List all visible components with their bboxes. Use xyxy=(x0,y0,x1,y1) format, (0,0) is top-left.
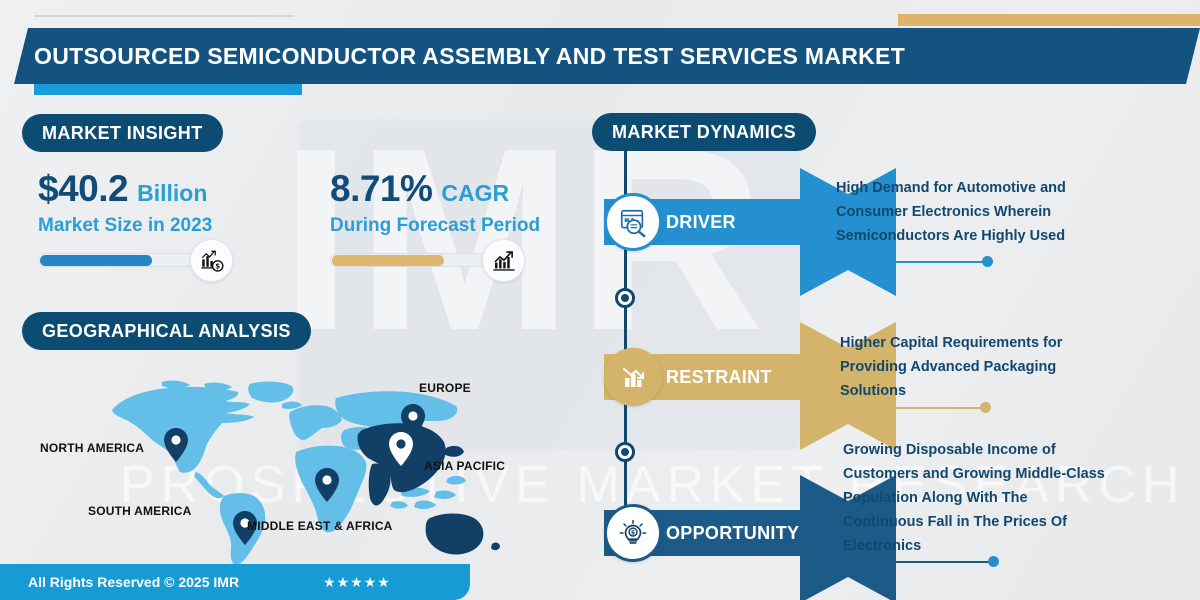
dynamics-label-opportunity: OPPORTUNITY xyxy=(666,523,799,544)
leader-line-opportunity xyxy=(836,561,996,563)
map-label-south-america: SOUTH AMERICA xyxy=(88,504,192,518)
market-insight-label: MARKET INSIGHT xyxy=(42,123,203,144)
geographical-analysis-label: GEOGRAPHICAL ANALYSIS xyxy=(42,321,291,342)
stat-market-size-value: $40.2 xyxy=(38,168,128,210)
map-label-asia-pacific: ASIA PACIFIC xyxy=(424,459,505,473)
bar-chart-dollar-icon: $ xyxy=(190,239,233,282)
footer-bar: All Rights Reserved © 2025 IMR ★★★★★ xyxy=(0,564,470,600)
header-blue-underbar xyxy=(34,84,302,95)
stat-market-size-unit: Billion xyxy=(137,180,207,207)
stat-cagr-unit: CAGR xyxy=(441,180,509,207)
header-gold-strip xyxy=(898,14,1200,26)
stat-market-size-progress: $ xyxy=(38,251,228,269)
infographic-canvas: IMR PROSPECTIVE MARKET RESEARCH OUTSOURC… xyxy=(0,0,1200,600)
declining-bar-chart-icon xyxy=(604,348,662,406)
leader-line-driver xyxy=(836,261,990,263)
stat-market-size-caption: Market Size in 2023 xyxy=(38,215,228,237)
stat-cagr-caption: During Forecast Period xyxy=(330,215,540,237)
page-title-text: OUTSOURCED SEMICONDUCTOR ASSEMBLY AND TE… xyxy=(34,43,905,70)
footer-star-rating: ★★★★★ xyxy=(323,574,391,591)
footer-copyright: All Rights Reserved © 2025 IMR xyxy=(28,574,239,590)
stat-cagr: 8.71% CAGR During Forecast Period xyxy=(330,168,540,269)
header-hairline xyxy=(34,15,294,17)
page-title: OUTSOURCED SEMICONDUCTOR ASSEMBLY AND TE… xyxy=(14,28,1200,84)
research-magnifier-icon xyxy=(604,193,662,251)
map-label-north-america: NORTH AMERICA xyxy=(40,441,144,455)
dynamics-text-opportunity: Growing Disposable Income of Customers a… xyxy=(843,438,1143,558)
lightbulb-dollar-icon: $ xyxy=(604,504,662,562)
progress-fill xyxy=(40,255,152,266)
leader-dot-restraint xyxy=(980,402,991,413)
dynamics-text-restraint: Higher Capital Requirements for Providin… xyxy=(840,331,1140,403)
dynamics-text-driver: High Demand for Automotive and Consumer … xyxy=(836,176,1136,248)
svg-text:$: $ xyxy=(631,530,635,537)
section-heading-geographical-analysis: GEOGRAPHICAL ANALYSIS xyxy=(22,312,311,350)
section-heading-market-dynamics: MARKET DYNAMICS xyxy=(592,113,816,151)
dynamics-label-driver: DRIVER xyxy=(666,212,736,233)
stat-cagr-value: 8.71% xyxy=(330,168,432,210)
dynamics-label-restraint: RESTRAINT xyxy=(666,367,772,388)
leader-dot-opportunity xyxy=(988,556,999,567)
progress-fill xyxy=(332,255,444,266)
stat-market-size: $40.2 Billion Market Size in 2023 $ xyxy=(38,168,228,269)
market-dynamics-label: MARKET DYNAMICS xyxy=(612,122,796,143)
timeline-node xyxy=(615,288,635,308)
stat-cagr-progress xyxy=(330,251,520,269)
leader-dot-driver xyxy=(982,256,993,267)
map-label-middle-east-africa: MIDDLE EAST & AFRICA xyxy=(247,519,393,533)
growth-arrow-chart-icon xyxy=(482,239,525,282)
svg-text:$: $ xyxy=(215,262,220,270)
leader-line-restraint xyxy=(836,407,986,409)
map-label-europe: EUROPE xyxy=(419,381,471,395)
map-highlight-asia-pacific xyxy=(357,423,500,554)
section-heading-market-insight: MARKET INSIGHT xyxy=(22,114,223,152)
timeline-node xyxy=(615,442,635,462)
